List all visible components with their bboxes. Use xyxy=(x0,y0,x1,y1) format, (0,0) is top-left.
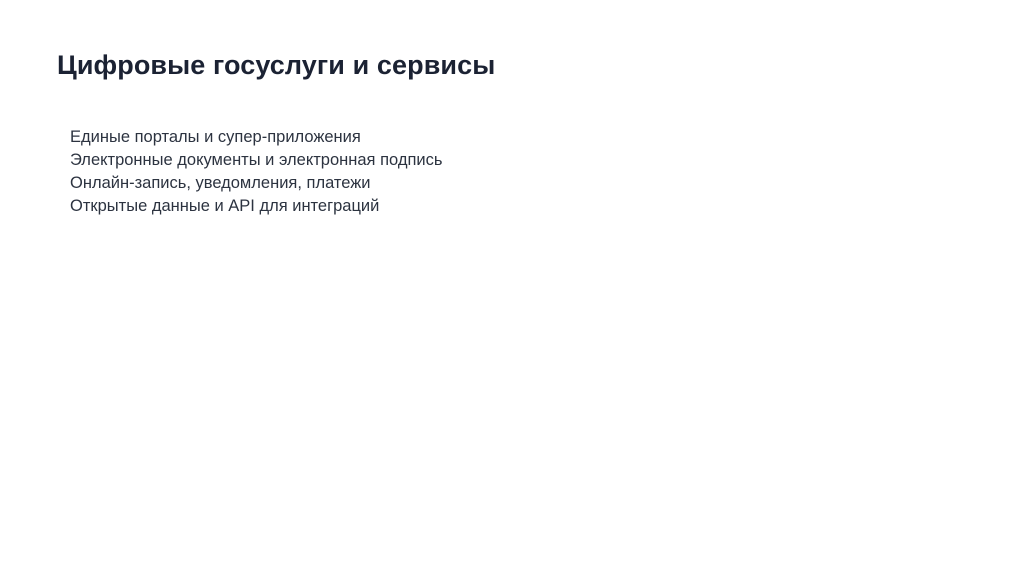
body-line: Онлайн-запись, уведомления, платежи xyxy=(70,172,770,195)
body-text-block: Единые порталы и супер-приложения Электр… xyxy=(70,126,770,218)
body-line: Открытые данные и API для интеграций xyxy=(70,195,770,218)
page-title: Цифровые госуслуги и сервисы xyxy=(57,50,495,81)
slide-canvas: Цифровые госуслуги и сервисы Единые порт… xyxy=(0,0,1024,574)
body-line: Электронные документы и электронная подп… xyxy=(70,149,770,172)
body-line: Единые порталы и супер-приложения xyxy=(70,126,770,149)
